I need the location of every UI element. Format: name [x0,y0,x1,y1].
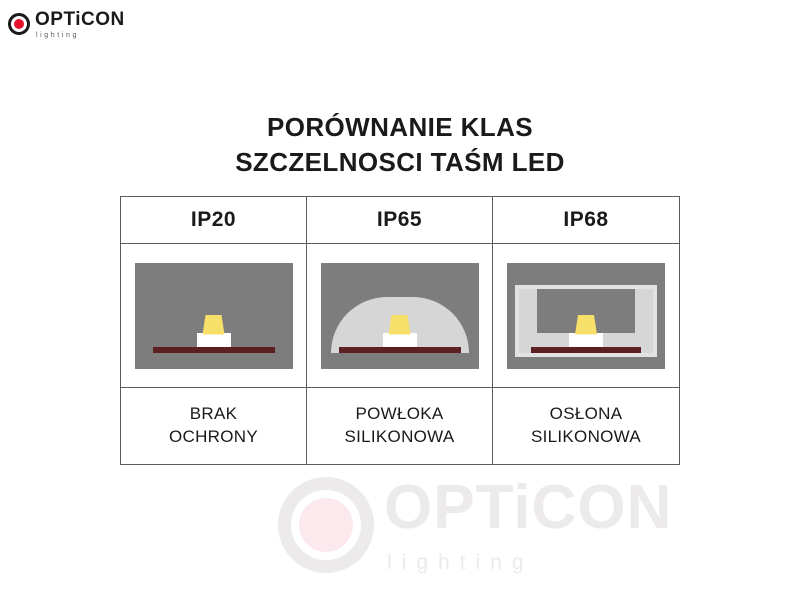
brand-logo-text: OPTiCON lighting [35,10,125,39]
opticon-dot-icon [14,19,24,29]
watermark-tagline: lighting [384,552,672,573]
page-title: PORÓWNANIE KLAS SZCZELNOSCI TAŚM LED [0,110,800,179]
pcb-board [339,347,461,353]
watermark-name: OPTiCON [384,477,672,539]
column-header-ip20: IP20 [121,197,307,243]
watermark-ring-icon [278,477,374,573]
led-strip-silicone-coating-diagram [321,263,479,369]
led-package [197,333,231,347]
caption-cell-ip65: POWŁOKA SILIKONOWA [307,388,493,464]
caption-cell-ip68: OSŁONA SILIKONOWA [493,388,679,464]
pcb-board [153,347,275,353]
caption-ip20-line-2: OCHRONY [169,426,258,449]
figure-cell-ip20 [121,244,307,387]
table-caption-row: BRAK OCHRONY POWŁOKA SILIKONOWA OSŁONA S… [121,388,679,464]
pcb-board [531,347,641,353]
table-figure-row [121,244,679,388]
figure-cell-ip68 [493,244,679,387]
watermark-text: OPTiCON lighting [384,477,672,573]
brand-name: OPTiCON [35,10,125,29]
caption-ip20-line-1: BRAK [190,403,238,426]
led-package [569,333,603,347]
column-header-ip68: IP68 [493,197,679,243]
column-header-ip65: IP65 [307,197,493,243]
brand-tagline: lighting [35,32,125,39]
led-phosphor-chip [575,315,597,335]
figure-cell-ip65 [307,244,493,387]
caption-ip65-line-1: POWŁOKA [355,403,443,426]
brand-logo: OPTiCON lighting [0,0,142,48]
led-phosphor-chip [203,315,225,335]
caption-ip68-line-2: SILIKONOWA [531,426,641,449]
opticon-ring-icon [8,13,30,35]
page-title-line-1: PORÓWNANIE KLAS [0,110,800,145]
led-phosphor-chip [389,315,411,335]
ip-comparison-table: IP20 IP65 IP68 [120,196,680,465]
table-header-row: IP20 IP65 IP68 [121,197,679,244]
led-package [383,333,417,347]
caption-ip65-line-2: SILIKONOWA [344,426,454,449]
page-title-line-2: SZCZELNOSCI TAŚM LED [0,145,800,180]
brand-watermark: OPTiCON lighting [278,470,798,580]
caption-ip68-line-1: OSŁONA [550,403,623,426]
caption-cell-ip20: BRAK OCHRONY [121,388,307,464]
led-strip-silicone-sleeve-diagram [507,263,665,369]
led-strip-bare-diagram [135,263,293,369]
watermark-dot-icon [299,498,353,552]
